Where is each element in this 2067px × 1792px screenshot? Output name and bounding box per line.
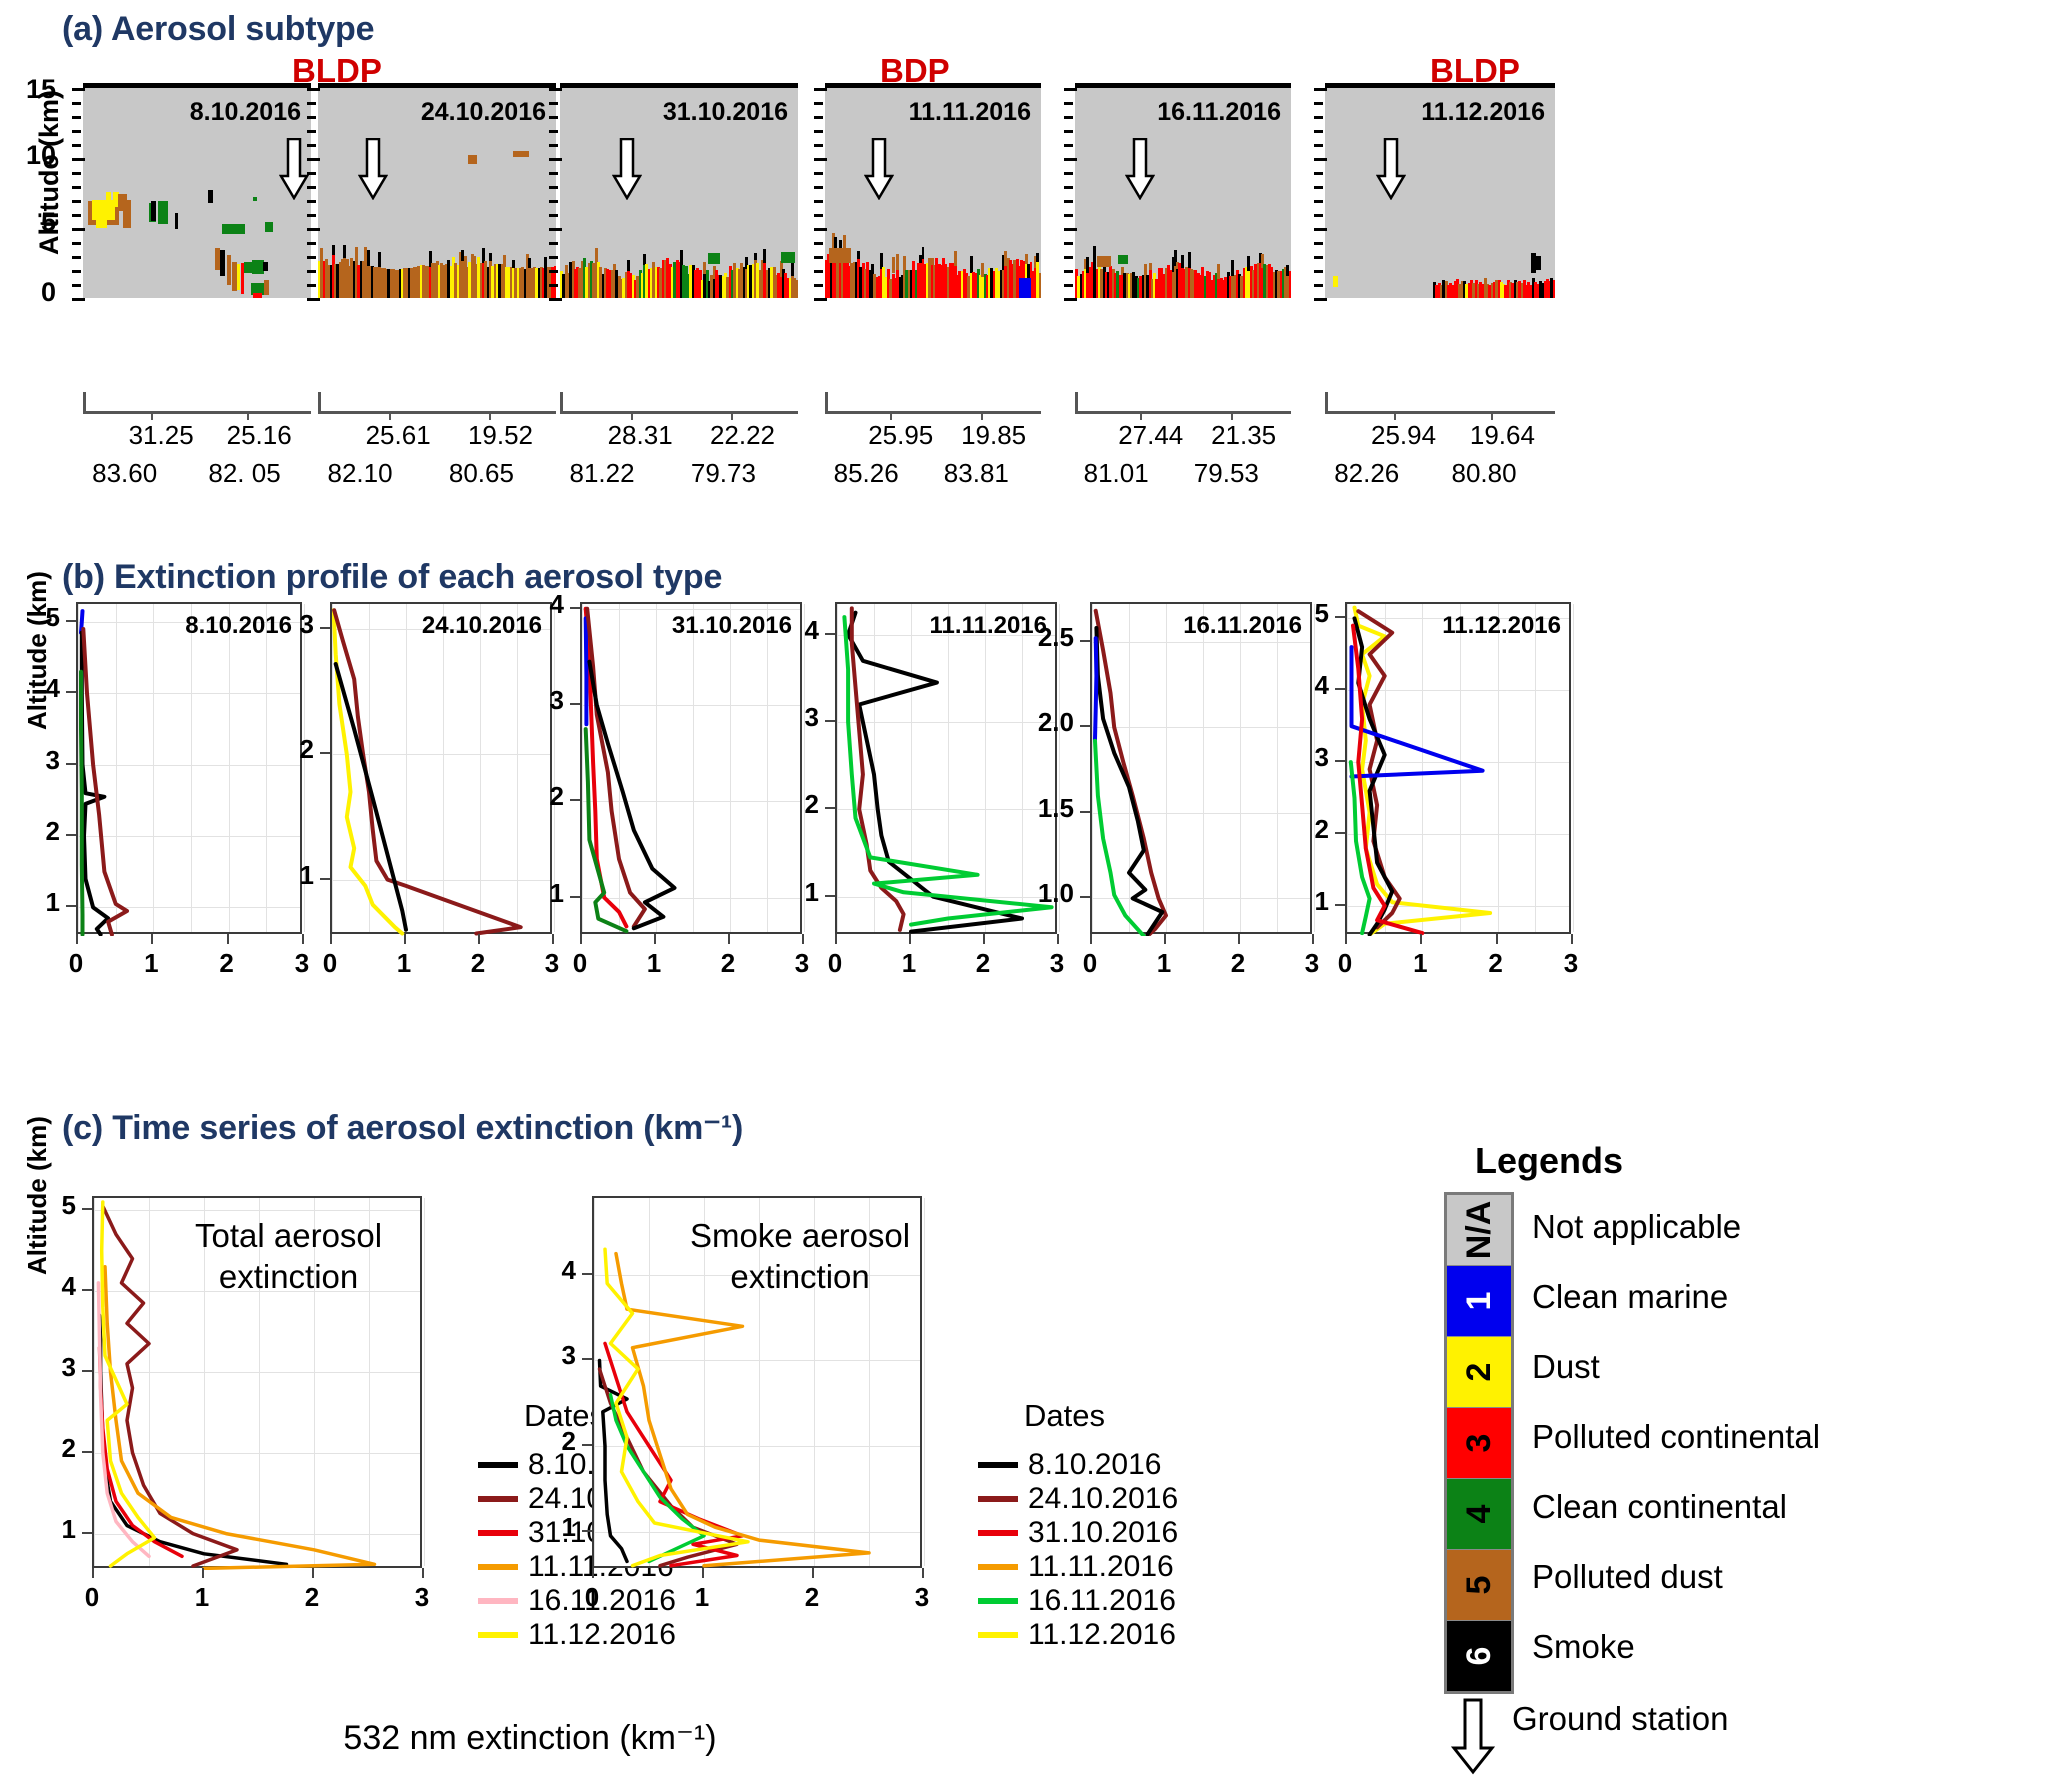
panel-a-ytick-mark [814, 186, 823, 189]
panel-a-x-tick [981, 411, 983, 420]
panel-a-x-axis [83, 411, 311, 414]
panel-a-ytick-mark [72, 270, 81, 273]
y-tick-label: 5 [1249, 598, 1329, 629]
x-tick-label: 1 [667, 1582, 737, 1613]
panel-a-latitude-left: 31.25 [129, 420, 194, 451]
y-tick-mark [1335, 616, 1345, 618]
x-tick-label: 0 [1310, 948, 1380, 979]
y-tick-mark [582, 1444, 592, 1446]
aerosol-subtype-segment [468, 155, 477, 163]
y-tick-mark [66, 691, 76, 693]
panel-a-ytick-mark [549, 88, 562, 91]
dates-legend-item[interactable]: 11.12.2016 [478, 1618, 678, 1652]
aerosol-subtype-segment [96, 206, 107, 228]
x-tick-mark [983, 934, 985, 944]
x-tick-mark [312, 1568, 314, 1578]
aerosol-subtype-segment [489, 253, 492, 262]
panel-a-longitude-left: 85.26 [834, 458, 899, 489]
panel-a-ytick-mark [549, 186, 558, 189]
legend-item-label: Clean marine [1532, 1262, 1820, 1332]
panel-a-ytick-mark [814, 116, 823, 119]
data-series-line [336, 664, 406, 930]
y-tick-label: 4 [739, 615, 819, 646]
aerosol-subtype-segment [528, 258, 531, 268]
dates-legend-swatch [978, 1598, 1018, 1604]
panel-a-ytick-mark [814, 214, 823, 217]
y-tick-label: 1 [496, 1512, 576, 1543]
panel-a-ytick-mark [72, 242, 81, 245]
panel-a-ytick-mark [72, 116, 81, 119]
y-tick-mark [570, 703, 580, 705]
panel-a-ytick-mark [307, 242, 316, 245]
aerosol-subtype-segment [253, 293, 262, 298]
y-tick-mark [582, 1358, 592, 1360]
panel-a-latitude-right: 21.35 [1211, 420, 1276, 451]
panel-a-ytick-mark [1314, 102, 1323, 105]
panel-a-date-label: 16.11.2016 [1157, 98, 1281, 127]
legends-block: Legends N/A123456 Not applicableClean ma… [1422, 1140, 1694, 1182]
dates-legend-swatch [478, 1632, 518, 1638]
x-tick-mark [478, 934, 480, 944]
caption-line-2: extinction [690, 1256, 910, 1297]
legend-color-cell: N/A [1447, 1195, 1511, 1265]
panel-c-title: (c) Time series of aerosol extinction (k… [62, 1108, 743, 1148]
x-tick-label: 3 [1536, 948, 1606, 979]
panel-a-ytick-mark [72, 200, 81, 203]
aerosol-subtype-segment [627, 260, 630, 271]
panel-a-ytick-mark [307, 158, 320, 161]
y-tick-mark [1335, 688, 1345, 690]
panel-a-ytick-mark [1314, 116, 1323, 119]
panel-a-ytick-mark [814, 200, 823, 203]
grid-line-vertical [1573, 604, 1574, 932]
panel-a-ytick-mark [72, 284, 81, 287]
ground-station-arrow-icon [612, 138, 642, 200]
y-tick-mark [825, 633, 835, 635]
panel-b-chart-6[interactable] [1345, 602, 1571, 934]
aerosol-subtype-segment [503, 255, 506, 266]
x-tick-mark [552, 934, 554, 944]
panel-a-ytick-mark [307, 284, 316, 287]
panel-a-ytick-mark [307, 298, 320, 301]
panel-a-ytick-mark [1064, 298, 1077, 301]
panel-c-chart-caption: Total aerosolextinction [195, 1215, 382, 1298]
panel-a-longitude-left: 81.01 [1084, 458, 1149, 489]
y-tick-label: 4 [484, 589, 564, 620]
data-series-line [586, 618, 587, 724]
panel-a-x-tick [247, 411, 249, 420]
legend-color-code: 5 [1444, 1553, 1514, 1617]
panel-a-latitude-left: 25.61 [366, 420, 431, 451]
y-tick-mark [1080, 725, 1090, 727]
panel-a-ytick-mark [1064, 172, 1073, 175]
y-tick-label: 3 [0, 1352, 76, 1383]
y-tick-mark [570, 799, 580, 801]
aerosol-subtype-segment [1333, 276, 1338, 287]
panel-a-ytick-mark [1064, 130, 1073, 133]
panel-a-ytick-mark [72, 186, 81, 189]
y-tick-mark [320, 627, 330, 629]
dates-legend-item[interactable]: 24.10.2016 [978, 1482, 1178, 1516]
panel-a-date-label: 8.10.2016 [190, 98, 301, 127]
aerosol-subtype-segment [265, 222, 273, 232]
panel-a-ytick-mark [814, 130, 823, 133]
panel-a-latitude-right: 25.16 [227, 420, 292, 451]
panel-a-date-label: 11.12.2016 [1421, 98, 1545, 127]
aerosol-subtype-segment [829, 248, 851, 263]
panel-a-longitude-left: 82.26 [1334, 458, 1399, 489]
panel-a-x-tick [389, 411, 391, 420]
y-tick-mark [1335, 760, 1345, 762]
data-series-line [105, 1267, 375, 1569]
x-tick-label: 3 [887, 1582, 957, 1613]
panel-a-ytick-mark [307, 102, 316, 105]
x-tick-mark [330, 934, 332, 944]
panel-a-x-axis [1325, 411, 1555, 414]
panel-a-latitude-right: 19.85 [961, 420, 1026, 451]
x-tick-mark [728, 934, 730, 944]
panel-b-title: (b) Extinction profile of each aerosol t… [62, 558, 722, 597]
panel-a-x-tick [631, 411, 633, 420]
y-tick-label: 2 [496, 1426, 576, 1457]
aerosol-subtype-segment [1289, 271, 1291, 298]
panel-a-ytick-mark [307, 214, 316, 217]
aerosol-subtype-segment [237, 264, 240, 289]
x-tick-mark [702, 1568, 704, 1578]
panel-a-ytick-mark [307, 116, 316, 119]
dates-legend-item[interactable]: 16.11.2016 [978, 1584, 1178, 1618]
legend-color-code: 1 [1444, 1269, 1514, 1333]
panel-a-ytick-mark [1314, 172, 1323, 175]
panel-a-ytick-mark [72, 88, 85, 91]
panel-a-ytick-mark [72, 102, 81, 105]
panel-a-ytick-mark [549, 242, 558, 245]
y-tick-mark [825, 720, 835, 722]
aerosol-subtype-segment [1535, 256, 1541, 270]
panel-a-ytick-0: 0 [41, 277, 56, 308]
y-tick-mark [1335, 832, 1345, 834]
panel-a-longitude-left: 81.22 [570, 458, 635, 489]
panel-a-ytick-mark [814, 144, 823, 147]
x-tick-mark [227, 934, 229, 944]
aerosol-subtype-segment [1181, 255, 1184, 268]
panel-a-ytick-mark [549, 270, 558, 273]
y-tick-label: 1 [484, 878, 564, 909]
y-tick-label: 3 [234, 609, 314, 640]
y-tick-label: 1 [1249, 886, 1329, 917]
y-tick-mark [1080, 896, 1090, 898]
caption-line-2: extinction [195, 1256, 382, 1297]
dates-legend-label: 11.12.2016 [1028, 1618, 1176, 1652]
y-tick-label: 4 [1249, 670, 1329, 701]
ground-station-legend-label: Ground station [1512, 1700, 1728, 1738]
panel-a-latitude-left: 25.94 [1371, 420, 1436, 451]
x-tick-mark [1420, 934, 1422, 944]
y-tick-label: 4 [0, 1271, 76, 1302]
dates-legend: Dates8.10.201624.10.201631.10.201611.11.… [978, 1398, 1178, 1652]
panel-a-ytick-mark [549, 172, 558, 175]
panel-a-ytick-5: 5 [41, 207, 56, 238]
panel-a-date-label: 24.10.2016 [421, 98, 546, 127]
dates-legend-item[interactable]: 31.10.2016 [978, 1516, 1178, 1550]
panel-a-ytick-mark [1064, 284, 1073, 287]
x-tick-label: 1 [167, 1582, 237, 1613]
panel-a-ytick-mark [1314, 130, 1323, 133]
y-tick-mark [66, 763, 76, 765]
panel-a-ytick-mark [1314, 158, 1327, 161]
aerosol-subtype-segment [151, 201, 156, 221]
panel-a-ytick-mark [814, 270, 823, 273]
panel-a-ytick-mark [1314, 256, 1323, 259]
dates-legend-label: 11.11.2016 [1028, 1550, 1174, 1584]
panel-a-title: (a) Aerosol subtype [62, 10, 374, 49]
aerosol-subtype-segment [708, 253, 720, 264]
panel-a-ytick-mark [1314, 200, 1323, 203]
legends-title: Legends [1404, 1140, 1694, 1182]
x-tick-mark [302, 934, 304, 944]
x-tick-mark [1164, 934, 1166, 944]
x-tick-label: 2 [1461, 948, 1531, 979]
x-tick-mark [909, 934, 911, 944]
panel-a-longitude-right: 80.65 [449, 458, 514, 489]
panel-a-ytick-mark [1314, 284, 1323, 287]
y-tick-mark [66, 834, 76, 836]
x-tick-label: 1 [116, 948, 186, 979]
aerosol-subtype-segment [892, 257, 895, 274]
aerosol-subtype-segment [1039, 273, 1041, 298]
y-tick-mark [82, 1532, 92, 1534]
panel-a-ytick-mark [549, 298, 562, 301]
legend-color-cell: 3 [1447, 1407, 1511, 1478]
panel-a-longitude-left: 82.10 [328, 458, 393, 489]
y-tick-mark [1335, 904, 1345, 906]
x-axis-label: 532 nm extinction (km⁻¹) [220, 1718, 840, 1758]
panel-a-ytick-mark [549, 144, 558, 147]
y-tick-label: 2 [0, 816, 60, 847]
panel-a-ytick-mark [814, 158, 827, 161]
panel-a-ytick-mark [1064, 228, 1077, 231]
panel-a-longitude-right: 82. 05 [208, 458, 280, 489]
aerosol-subtype-segment [367, 250, 370, 266]
y-tick-label: 1 [739, 877, 819, 908]
dates-legend-swatch [978, 1462, 1018, 1468]
panel-a-longitude-right: 79.73 [691, 458, 756, 489]
x-tick-label: 0 [545, 948, 615, 979]
legend-color-cell: 2 [1447, 1336, 1511, 1407]
dates-legend-label: 16.11.2016 [1028, 1584, 1176, 1618]
aerosol-subtype-segment [158, 201, 168, 223]
ground-station-arrow-icon [864, 138, 894, 200]
panel-a-ytick-mark [307, 130, 316, 133]
x-tick-mark [922, 1568, 924, 1578]
panel-c-chart-caption: Smoke aerosolextinction [690, 1215, 910, 1298]
x-tick-label: 2 [277, 1582, 347, 1613]
panel-a-latitude-right: 22.22 [710, 420, 775, 451]
x-tick-label: 0 [800, 948, 870, 979]
aerosol-subtype-segment [222, 224, 245, 234]
down-arrow-outline-icon [1450, 1698, 1496, 1776]
y-tick-mark [66, 905, 76, 907]
panel-a-latitude-left: 28.31 [608, 420, 673, 451]
x-tick-label: 1 [619, 948, 689, 979]
x-tick-mark [1496, 934, 1498, 944]
y-tick-mark [825, 895, 835, 897]
aerosol-subtype-segment [332, 245, 335, 255]
data-series-line [1096, 611, 1166, 936]
caption-line-1: Smoke aerosol [690, 1215, 910, 1256]
x-tick-label: 2 [693, 948, 763, 979]
panel-a-latitude-left: 27.44 [1118, 420, 1183, 451]
y-tick-label: 3 [496, 1340, 576, 1371]
x-tick-mark [1238, 934, 1240, 944]
panel-a-ytick-mark [1314, 242, 1323, 245]
y-tick-label: 3 [1249, 742, 1329, 773]
panel-a-ytick-mark [1064, 270, 1073, 273]
y-tick-label: 1.5 [994, 793, 1074, 824]
x-tick-mark [1090, 934, 1092, 944]
panel-a-ytick-mark [1314, 270, 1323, 273]
panel-a-ytick-mark [549, 130, 558, 133]
x-tick-mark [835, 934, 837, 944]
panel-a-latitude-right: 19.64 [1470, 420, 1535, 451]
x-tick-label: 0 [1055, 948, 1125, 979]
panel-a-ytick-mark [1314, 186, 1323, 189]
y-tick-label: 5 [0, 602, 60, 633]
y-tick-mark [582, 1273, 592, 1275]
panel-a-ytick-mark [72, 228, 85, 231]
panel-a-ytick-mark [307, 186, 316, 189]
aerosol-subtype-segment [680, 250, 683, 263]
aerosol-subtype-segment [1019, 278, 1031, 298]
y-tick-label: 1.0 [994, 878, 1074, 909]
aerosol-subtype-segment [1231, 260, 1234, 276]
data-series-line [81, 672, 83, 935]
aerosol-subtype-segment [970, 256, 973, 273]
aerosol-subtype-segment [253, 197, 258, 201]
panel-a-ytick-mark [549, 214, 558, 217]
aerosol-subtype-segment [1144, 264, 1147, 274]
y-tick-label: 2.0 [994, 707, 1074, 738]
aerosol-subtype-segment [857, 251, 860, 259]
aerosol-subtype-segment [244, 262, 252, 273]
aerosol-subtype-segment [1217, 264, 1220, 279]
y-tick-mark [66, 620, 76, 622]
y-tick-label: 4 [496, 1255, 576, 1286]
ground-station-arrow-icon [358, 138, 388, 200]
panel-a-ytick-mark [1064, 256, 1073, 259]
panel-a-longitude-right: 83.81 [944, 458, 1009, 489]
legend-item-label: Polluted dust [1532, 1542, 1820, 1612]
aerosol-subtype-segment [1553, 280, 1555, 298]
x-tick-mark [592, 1568, 594, 1578]
legend-item-label: Clean continental [1532, 1472, 1820, 1542]
data-series-line [1095, 638, 1096, 739]
panel-b-date-label: 11.12.2016 [1442, 612, 1561, 640]
x-tick-label: 2 [948, 948, 1018, 979]
panel-a-ytick-mark [814, 256, 823, 259]
aerosol-subtype-segment [355, 247, 358, 260]
aerosol-subtype-segment [896, 254, 899, 270]
x-tick-mark [1312, 934, 1314, 944]
x-tick-label: 3 [387, 1582, 457, 1613]
panel-a-x-tick [1231, 411, 1233, 420]
y-tick-mark [82, 1208, 92, 1210]
aerosol-subtype-segment [320, 248, 323, 259]
panel-a-ytick-mark [814, 172, 823, 175]
panel-a-ytick-mark [72, 144, 81, 147]
legend-color-cell: 1 [1447, 1265, 1511, 1336]
panel-a-x-axis [1075, 411, 1291, 414]
aerosol-subtype-segment [263, 262, 268, 272]
aerosol-subtype-segment [513, 151, 529, 157]
legend-color-code: 4 [1444, 1482, 1514, 1546]
x-tick-mark [92, 1568, 94, 1578]
panel-a-ytick-mark [1064, 242, 1073, 245]
panel-a-x-tick [1140, 411, 1142, 420]
panel-a-ytick-mark [814, 284, 823, 287]
panel-a-x-axis [825, 411, 1041, 414]
legend-color-code: 3 [1444, 1411, 1514, 1475]
y-tick-mark [82, 1289, 92, 1291]
data-series-line [1095, 741, 1144, 936]
aerosol-subtype-segment [378, 252, 381, 267]
y-tick-label: 2 [1249, 814, 1329, 845]
panel-a-x-tick [1394, 411, 1396, 420]
x-tick-mark [1057, 934, 1059, 944]
x-tick-mark [654, 934, 656, 944]
series-layer [1347, 604, 1573, 936]
dates-legend-item[interactable]: 11.11.2016 [978, 1550, 1178, 1584]
dates-legend-item[interactable]: 8.10.2016 [978, 1448, 1178, 1482]
data-series-line [616, 1254, 869, 1566]
aerosol-subtype-segment [544, 257, 547, 267]
y-tick-mark [570, 896, 580, 898]
y-tick-label: 1 [0, 1514, 76, 1545]
dates-legend-label: 31.10.2016 [1028, 1516, 1178, 1550]
panel-a-ytick-mark [307, 270, 316, 273]
aerosol-subtype-segment [1149, 263, 1152, 271]
aerosol-subtype-segment [796, 280, 798, 298]
panel-a-ytick-mark [549, 256, 558, 259]
aerosol-subtype-segment [220, 250, 226, 275]
legend-color-cell: 6 [1447, 1620, 1511, 1691]
panel-a-ytick-mark [549, 158, 562, 161]
dates-legend-swatch [978, 1530, 1018, 1536]
panel-a-ytick-mark [1064, 200, 1073, 203]
panel-a-ytick-10: 10 [26, 140, 56, 171]
x-tick-mark [1571, 934, 1573, 944]
data-series-line [100, 1315, 287, 1564]
panel-a-ytick-mark [1064, 214, 1073, 217]
dates-legend-swatch [978, 1632, 1018, 1638]
dates-legend-swatch [478, 1598, 518, 1604]
legend-color-code: 2 [1444, 1340, 1514, 1404]
dates-legend-item[interactable]: 11.12.2016 [978, 1618, 1178, 1652]
x-tick-mark [151, 934, 153, 944]
panel-a-x-tick [1491, 411, 1493, 420]
panel-a-x-axis [560, 411, 798, 414]
aerosol-subtype-segment [227, 255, 232, 286]
panel-a-latitude-right: 19.52 [468, 420, 533, 451]
panel-b-y-axis-label: Altitude (km) [22, 571, 53, 730]
legend-color-code: 6 [1444, 1624, 1514, 1688]
ground-station-arrow-icon [1125, 138, 1155, 200]
y-tick-mark [825, 807, 835, 809]
ground-station-legend-row: Ground station [1444, 1700, 1728, 1738]
aerosol-subtype-segment [781, 252, 795, 263]
x-tick-label: 0 [57, 1582, 127, 1613]
y-tick-mark [582, 1530, 592, 1532]
